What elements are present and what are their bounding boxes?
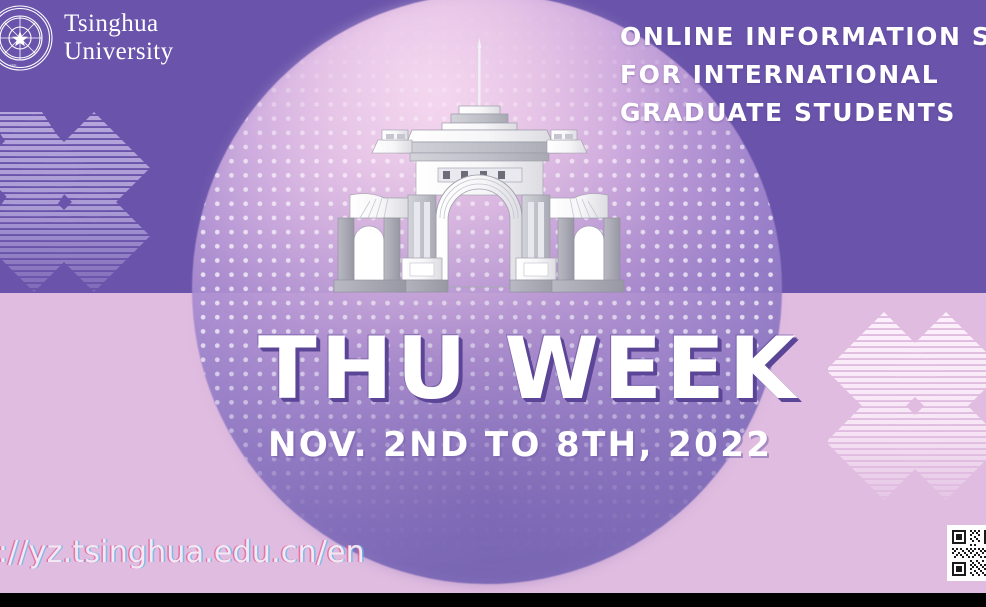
brand-name-line1: Tsinghua bbox=[64, 10, 159, 37]
brand-wordmark: Tsinghua University bbox=[64, 10, 174, 66]
headline-line-2: FOR INTERNATIONAL bbox=[620, 56, 986, 94]
headline-block: ONLINE INFORMATION SESSION FOR INTERNATI… bbox=[620, 18, 986, 132]
poster-canvas: 1911 Tsinghua University ONLINE INFORMAT… bbox=[0, 0, 986, 607]
brand-lockup: 1911 Tsinghua University bbox=[0, 4, 174, 72]
striped-diamond-motif-icon bbox=[0, 104, 154, 294]
page-title: THU WEEK bbox=[258, 326, 799, 412]
website-url[interactable]: s://yz.tsinghua.edu.cn/en bbox=[0, 535, 365, 570]
letterbox-bar bbox=[0, 593, 986, 607]
event-dates: NOV. 2ND TO 8TH, 2022 bbox=[268, 428, 772, 462]
tsinghua-gate-icon bbox=[330, 22, 630, 294]
headline-line-1: ONLINE INFORMATION SESSION bbox=[620, 18, 986, 56]
striped-diamond-motif-icon-right bbox=[828, 306, 986, 506]
qr-code-icon[interactable] bbox=[947, 525, 986, 581]
headline-line-3: GRADUATE STUDENTS bbox=[620, 94, 986, 132]
tsinghua-seal-icon: 1911 bbox=[0, 4, 54, 72]
brand-name-line2: University bbox=[64, 38, 174, 66]
svg-text:1911: 1911 bbox=[10, 63, 17, 67]
